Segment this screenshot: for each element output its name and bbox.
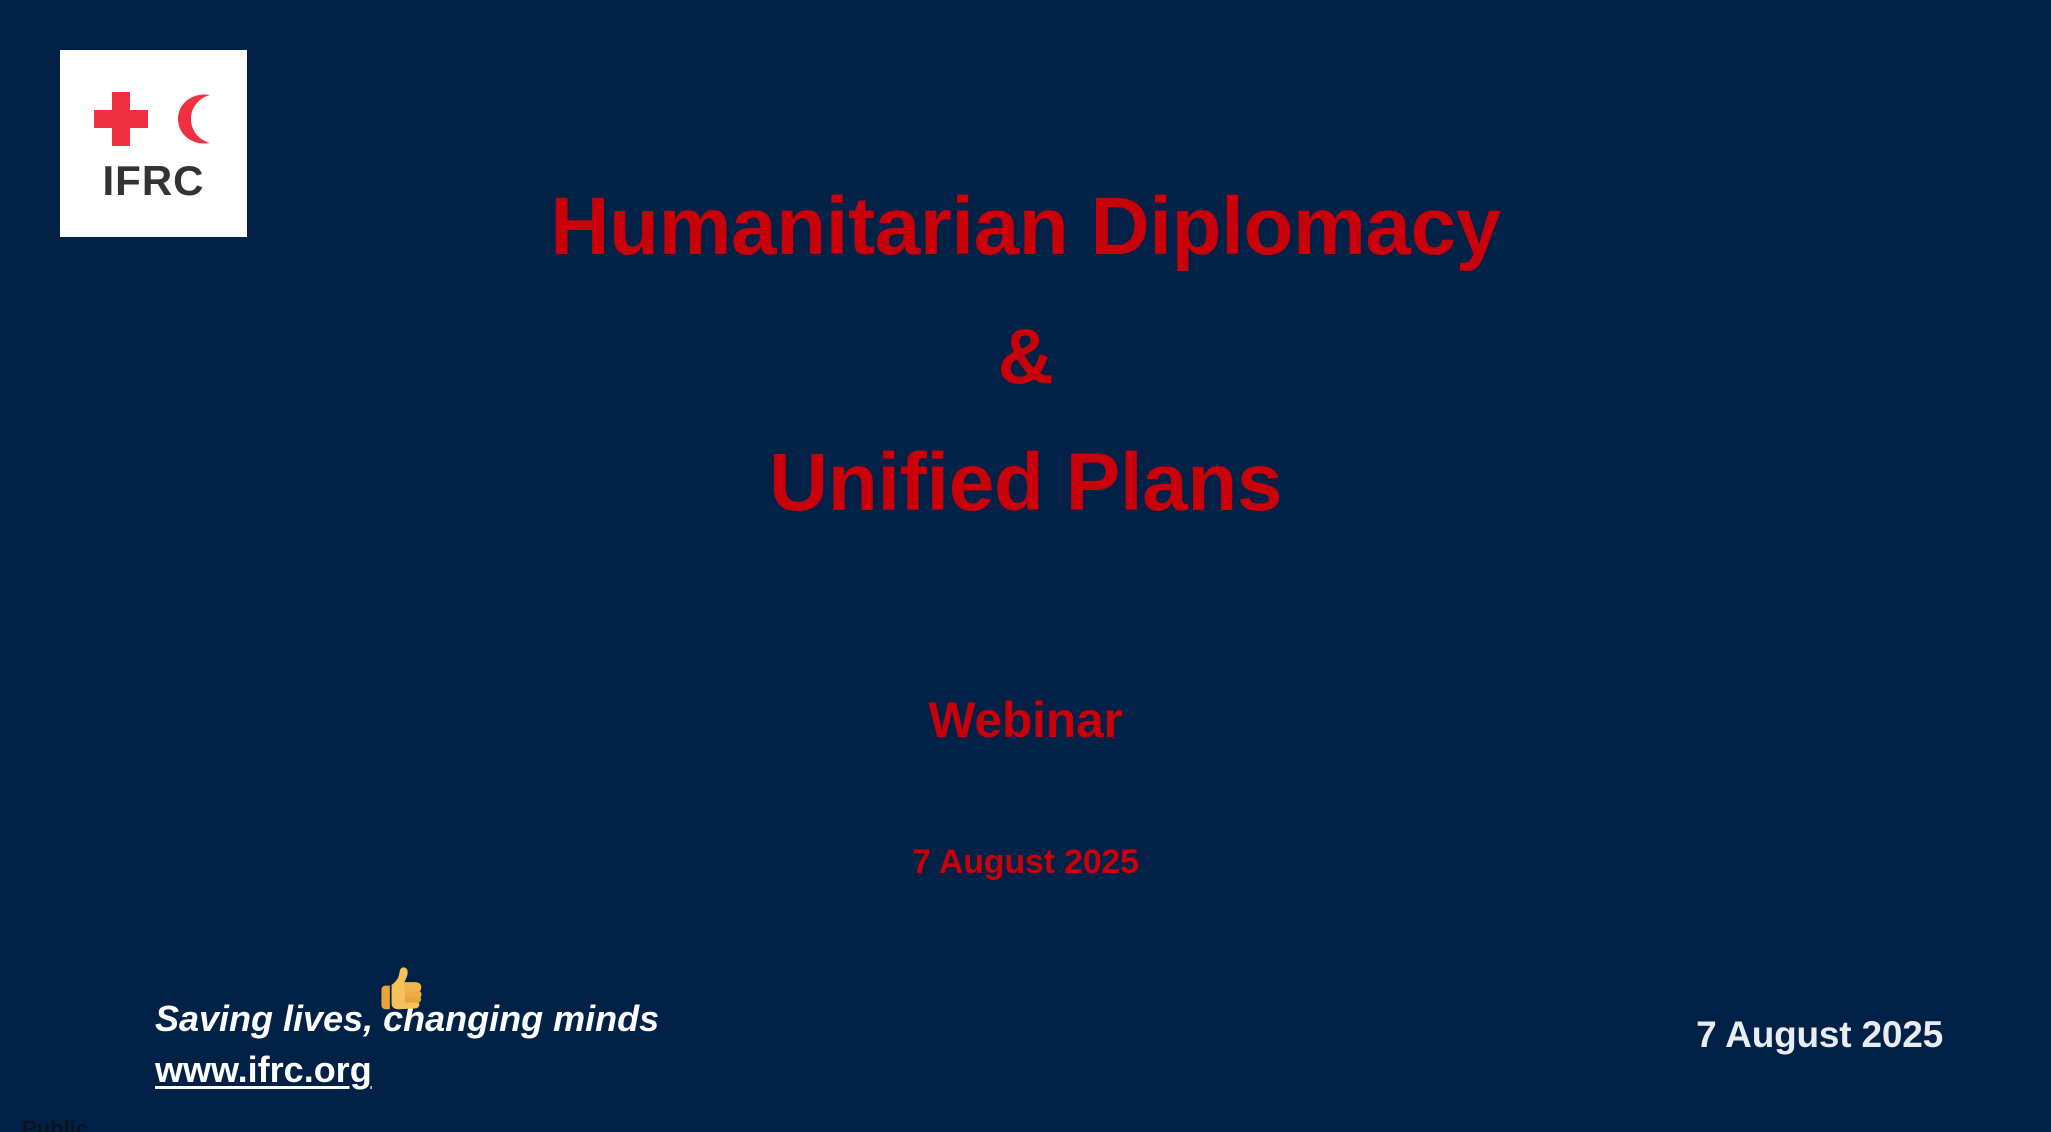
tagline: Saving lives, changing minds bbox=[155, 1000, 659, 1038]
footer-date: 7 August 2025 bbox=[1696, 1016, 1943, 1053]
title-line-1: Humanitarian Diplomacy bbox=[0, 175, 2051, 280]
title-block: Humanitarian Diplomacy & Unified Plans bbox=[0, 175, 2051, 536]
event-type-label: Webinar bbox=[0, 695, 2051, 745]
title-ampersand: & bbox=[0, 304, 2051, 409]
event-date: 7 August 2025 bbox=[0, 845, 2051, 879]
ifrc-website-link[interactable]: www.ifrc.org bbox=[155, 1050, 372, 1090]
red-cross-icon bbox=[94, 92, 148, 146]
red-crescent-icon bbox=[158, 90, 214, 148]
title-line-3: Unified Plans bbox=[0, 431, 2051, 536]
classification-marker: Public bbox=[22, 1118, 88, 1132]
title-slide: IFRC Humanitarian Diplomacy & Unified Pl… bbox=[0, 0, 2051, 1132]
footer-left: Saving lives, changing minds www.ifrc.or… bbox=[155, 1000, 659, 1090]
logo-emblems bbox=[94, 90, 214, 148]
